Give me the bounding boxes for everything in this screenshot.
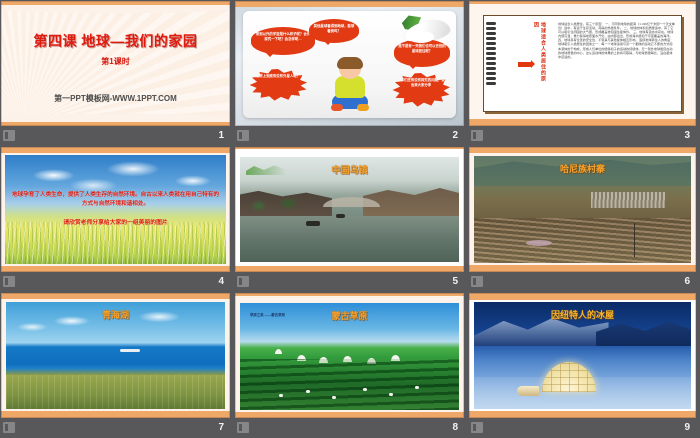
terrace-pond [526,240,552,246]
notebook-body-text: 地球适合人类居住，有三个原因： 一、不同到地球的距离（1.496亿千米即一个天文… [558,22,675,105]
speech-bubble-4: 世界上到底有没有外星人呢？ [249,69,307,101]
top-curve [1,5,230,19]
top-band [1,293,230,299]
utility-pole [634,223,635,257]
grass-stripes [240,359,459,410]
slide-number: 6 [684,275,690,289]
qinghai-lake-slide[interactable]: 青海湖 [1,293,230,418]
mongolian-grassland-slide[interactable]: 草原之美 ——蒙古草原 蒙古草原 [235,293,464,418]
watermark-icon [471,130,483,141]
wuzhen-photo: 中国乌镇 [240,157,459,262]
mountain-right [596,318,691,346]
notebook-graphic: 地球适合人类居住的原因 地球适合人类居住，有三个原因： 一、不同到地球的距离（1… [483,15,682,112]
village-houses [591,192,665,208]
flower-field [5,222,226,264]
slide-cell-8[interactable]: 草原之美 ——蒙古草原 蒙古草原 8 [234,292,468,438]
slide-cell-7[interactable]: 青海湖 7 [0,292,234,438]
photo-title: 因纽特人的冰屋 [474,308,691,321]
top-band [1,147,230,153]
vertical-title: 地球适合人类居住的原因 [512,22,546,86]
slide-footer-2: 2 [235,126,464,146]
hani-village-slide[interactable]: 哈尼族村寨 [469,147,696,272]
boat [306,221,320,226]
slide-cell-9[interactable]: 因纽特人的冰屋 9 [468,292,700,438]
bottom-band [469,265,696,272]
photo-title: 中国乌镇 [240,163,459,176]
watermark-icon [237,130,249,141]
title-slide[interactable]: 第四课 地球—我们的家园 第1课时 第一PPT模板网-WWW.1PPT.COM [1,1,230,126]
slide-footer-7: 7 [1,418,230,438]
slide-number: 2 [452,129,458,143]
notebook-slide[interactable]: 地球适合人类居住的原因 地球适合人类居住，有三个原因： 一、不同到地球的距离（1… [469,1,696,126]
slide-number: 7 [218,421,224,435]
photo-title: 哈尼族村寨 [474,162,691,175]
spiral-rings-icon [486,20,496,107]
sheep [363,388,367,391]
slide-cell-1[interactable]: 第四课 地球—我们的家园 第1课时 第一PPT模板网-WWW.1PPT.COM … [0,0,234,146]
slide-title: 第四课 地球—我们的家园 [1,31,230,51]
igloo [542,362,596,392]
watermark-icon [3,276,15,287]
watermark-icon [3,422,15,433]
bottom-curve [1,108,230,122]
slide-subtitle: 第1课时 [1,56,230,67]
photo-title: 青海湖 [6,308,225,321]
shoreline-grass [6,375,225,409]
yurt [275,349,282,354]
watermark-icon [3,130,15,141]
site-watermark: 第一PPT模板网-WWW.1PPT.COM [1,93,230,104]
slide-number: 5 [452,275,458,289]
arrow-right-icon [518,60,540,69]
slide-footer-9: 9 [469,418,696,438]
dove-icon [400,15,452,49]
ice-blocks [542,362,596,392]
grassland-photo: 草原之美 ——蒙古草原 蒙古草原 [240,303,459,410]
boat [336,214,345,218]
slide-thumbnail-grid: 第四课 地球—我们的家园 第1课时 第一PPT模板网-WWW.1PPT.COM … [0,0,700,438]
slide-cell-6[interactable]: 哈尼族村寨 6 [468,146,700,292]
slide-footer-8: 8 [235,418,464,438]
wuzhen-slide[interactable]: 中国乌镇 [235,147,464,272]
question-bubbles-slide[interactable]: 来到以外的宇宙是什么样子呢？合作探究一下吧？会怎样呢… 其他星球看得到地球，能够… [235,1,464,126]
hani-terrace-photo: 哈尼族村寨 [474,156,691,263]
watermark-icon [471,422,483,433]
slide-footer-5: 5 [235,272,464,292]
bottom-band [1,411,230,418]
speech-bubble-2: 其他星球看得到地球，能够看到吗？ [309,19,359,43]
igloo-photo: 因纽特人的冰屋 [474,302,691,409]
igloo-entrance-tunnel [517,386,539,396]
canal-water [240,216,459,262]
watermark-icon [471,276,483,287]
slide-footer-1: 1 [1,126,230,146]
top-band [235,1,464,7]
slide-footer-3: 3 [469,126,696,146]
speech-bubble-1: 来到以外的宇宙是什么样子呢？合作探究一下吧？会怎样呢… [251,27,315,55]
slide-number: 8 [452,421,458,435]
speech-bubble-5: 同学们还有没有探究的问题？说出来大家分享 [392,73,450,107]
bottom-band [469,411,696,418]
bottom-band [469,119,696,126]
slide-cell-5[interactable]: 中国乌镇 5 [234,146,468,292]
top-band [469,293,696,300]
intro-text-slide[interactable]: 地球孕育了人类生命，提供了人类生存的自然环境。自古以来人类就在用自己特有的方式与… [1,147,230,272]
photo-title: 蒙古草原 [240,309,459,322]
qinghai-lake-photo: 青海湖 [6,302,225,409]
intro-line-1: 地球孕育了人类生命，提供了人类生存的自然环境。自古以来人类就在用自己特有的方式与… [11,191,220,209]
sheep [415,386,419,389]
slide-footer-4: 4 [1,272,230,292]
slide-number: 1 [218,129,224,143]
slide-cell-3[interactable]: 地球适合人类居住的原因 地球适合人类居住，有三个原因： 一、不同到地球的距离（1… [468,0,700,146]
rice-terraces [474,218,691,263]
intro-line-2: 请欣赏老师分享给大家的一组美丽的图片 [11,217,220,226]
slide-cell-2[interactable]: 来到以外的宇宙是什么样子呢？合作探究一下吧？会怎样呢… 其他星球看得到地球，能够… [234,0,468,146]
top-band [469,147,696,153]
thinking-boy-illustration [330,59,370,111]
island [120,349,140,352]
watermark-icon [237,276,249,287]
content-panel: 来到以外的宇宙是什么样子呢？合作探究一下吧？会怎样呢… 其他星球看得到地球，能够… [243,11,456,118]
inuit-igloo-slide[interactable]: 因纽特人的冰屋 [469,293,696,418]
slide-cell-4[interactable]: 地球孕育了人类生命，提供了人类生存的自然环境。自古以来人类就在用自己特有的方式与… [0,146,234,292]
sheep [389,393,393,396]
slide-number: 9 [684,421,690,435]
sheep [306,390,310,393]
watermark-icon [237,422,249,433]
slide-number: 3 [684,129,690,143]
meadow-photo: 地球孕育了人类生命，提供了人类生存的自然环境。自古以来人类就在用自己特有的方式与… [5,155,226,264]
slide-footer-6: 6 [469,272,696,292]
slide-number: 4 [218,275,224,289]
